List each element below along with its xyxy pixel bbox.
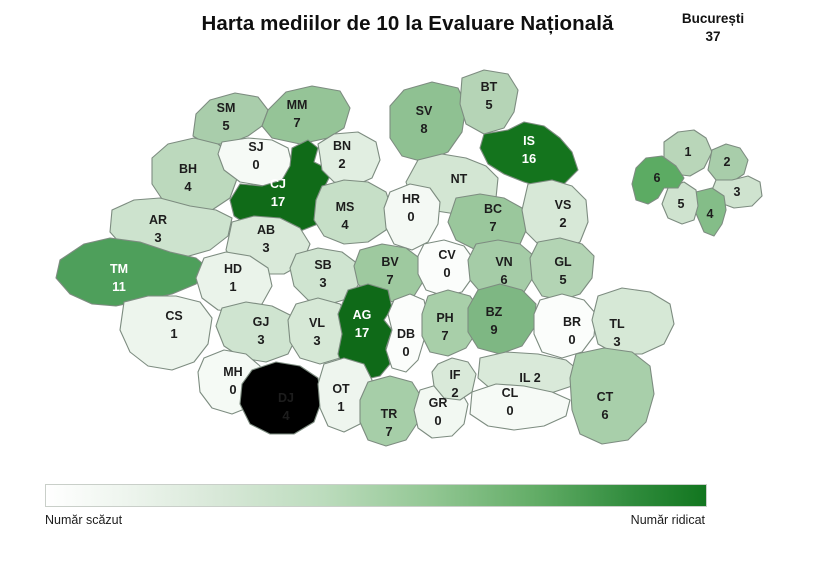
county-TL[interactable] xyxy=(592,288,674,354)
county-CV[interactable] xyxy=(418,240,474,296)
county-SM[interactable] xyxy=(193,93,268,144)
map-stage: SM5MM7SV8BT5IS16BH4SJ0CJ17BN2NTMS4HR0BC7… xyxy=(0,52,815,472)
county-CT[interactable] xyxy=(570,348,654,444)
romania-choropleth-svg[interactable]: SM5MM7SV8BT5IS16BH4SJ0CJ17BN2NTMS4HR0BC7… xyxy=(0,52,815,472)
choropleth-map-page: Harta mediilor de 10 la Evaluare Naționa… xyxy=(0,0,815,564)
county-CS[interactable] xyxy=(120,296,212,370)
county-BZ[interactable] xyxy=(468,284,536,354)
sector-2[interactable] xyxy=(708,144,748,182)
county-layer[interactable] xyxy=(56,70,674,446)
bucharest-inset[interactable]: 123456 xyxy=(632,130,762,236)
county-SV[interactable] xyxy=(390,82,466,162)
legend-high-label: Număr ridicat xyxy=(631,513,705,527)
county-HR[interactable] xyxy=(384,184,440,250)
county-DJ[interactable] xyxy=(240,362,322,434)
legend-labels: Număr scăzut Număr ridicat xyxy=(45,513,705,531)
county-TR[interactable] xyxy=(360,376,422,446)
legend-low-label: Număr scăzut xyxy=(45,513,122,527)
legend-gradient-bar xyxy=(45,484,707,507)
bucharest-title-block: București 37 xyxy=(628,10,798,46)
bucharest-name: București xyxy=(628,10,798,28)
county-BT[interactable] xyxy=(460,70,518,134)
county-GL[interactable] xyxy=(530,238,594,300)
legend: Număr scăzut Număr ridicat xyxy=(45,484,705,531)
bucharest-total: 37 xyxy=(628,28,798,46)
county-MS[interactable] xyxy=(314,180,392,244)
county-BR[interactable] xyxy=(534,294,596,358)
